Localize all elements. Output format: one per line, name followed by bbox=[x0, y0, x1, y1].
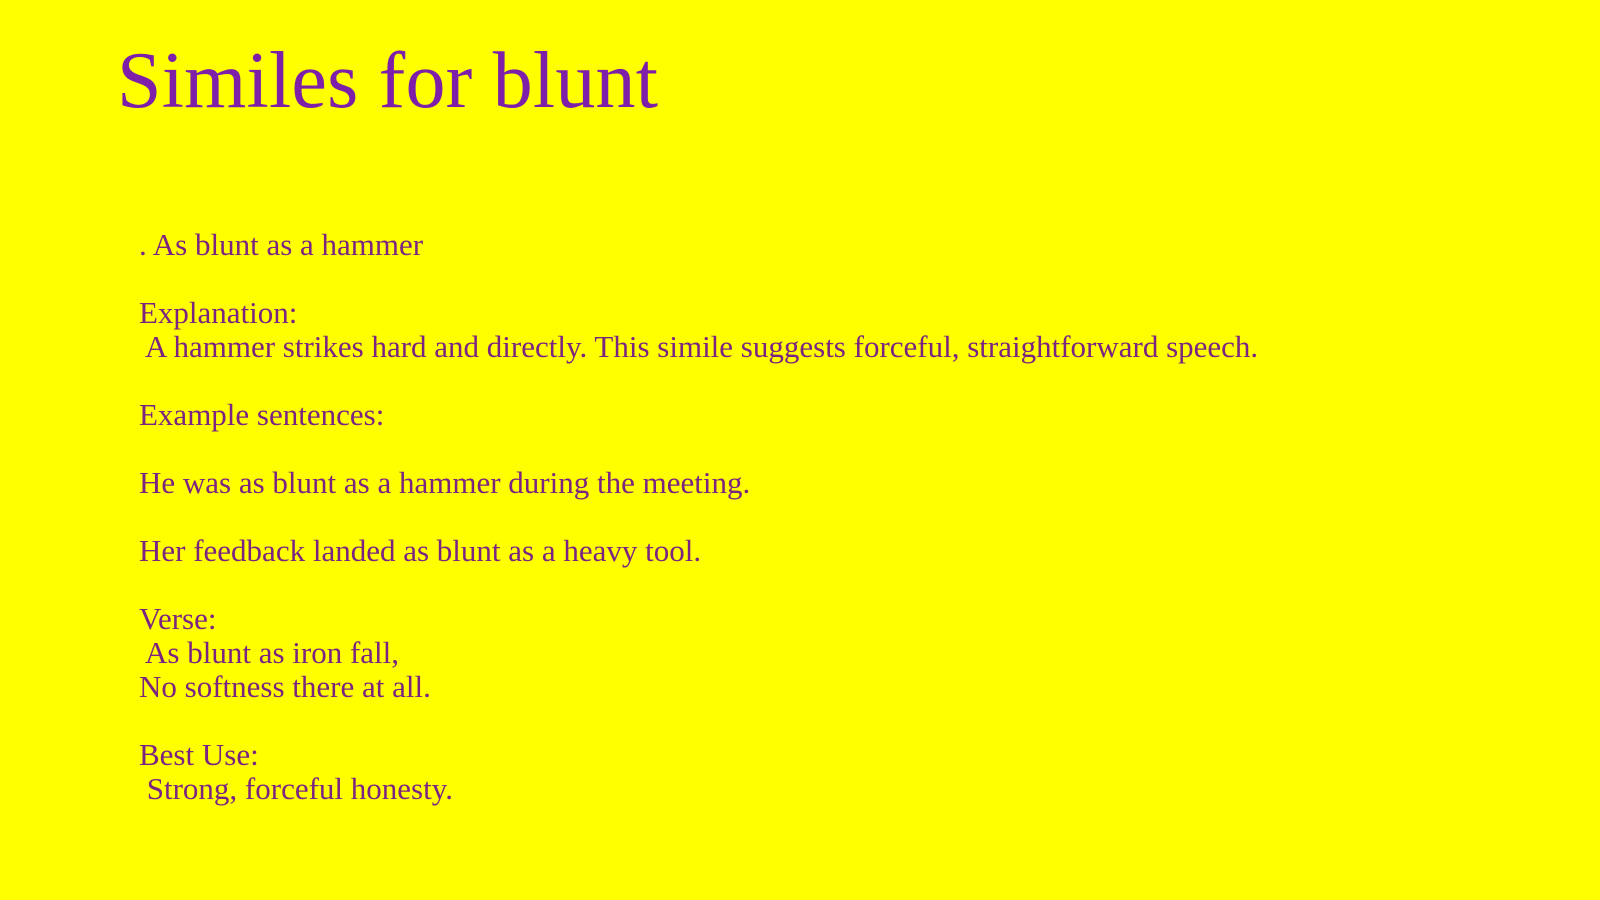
text-line: Explanation: bbox=[139, 296, 1439, 330]
text-line: He was as blunt as a hammer during the m… bbox=[139, 466, 1439, 500]
paragraph-example-sentence-1: He was as blunt as a hammer during the m… bbox=[139, 466, 1439, 500]
text-line: Best Use: bbox=[139, 738, 1439, 772]
paragraph-simile-heading: . As blunt as a hammer bbox=[139, 228, 1439, 262]
slide-body: . As blunt as a hammer Explanation: A ha… bbox=[139, 228, 1439, 806]
text-line: Strong, forceful honesty. bbox=[139, 772, 1439, 806]
paragraph-verse: Verse: As blunt as iron fall, No softnes… bbox=[139, 602, 1439, 704]
page-title: Similes for blunt bbox=[117, 41, 658, 121]
paragraph-example-sentence-2: Her feedback landed as blunt as a heavy … bbox=[139, 534, 1439, 568]
slide-canvas: Similes for blunt . As blunt as a hammer… bbox=[0, 0, 1600, 900]
text-line: As blunt as iron fall, bbox=[139, 636, 1439, 670]
text-line: No softness there at all. bbox=[139, 670, 1439, 704]
text-line: . As blunt as a hammer bbox=[139, 228, 1439, 262]
text-line: Her feedback landed as blunt as a heavy … bbox=[139, 534, 1439, 568]
paragraph-example-sentences-heading: Example sentences: bbox=[139, 398, 1439, 432]
text-line: Verse: bbox=[139, 602, 1439, 636]
paragraph-explanation: Explanation: A hammer strikes hard and d… bbox=[139, 296, 1439, 364]
text-line: A hammer strikes hard and directly. This… bbox=[139, 330, 1439, 364]
paragraph-best-use: Best Use: Strong, forceful honesty. bbox=[139, 738, 1439, 806]
text-line: Example sentences: bbox=[139, 398, 1439, 432]
